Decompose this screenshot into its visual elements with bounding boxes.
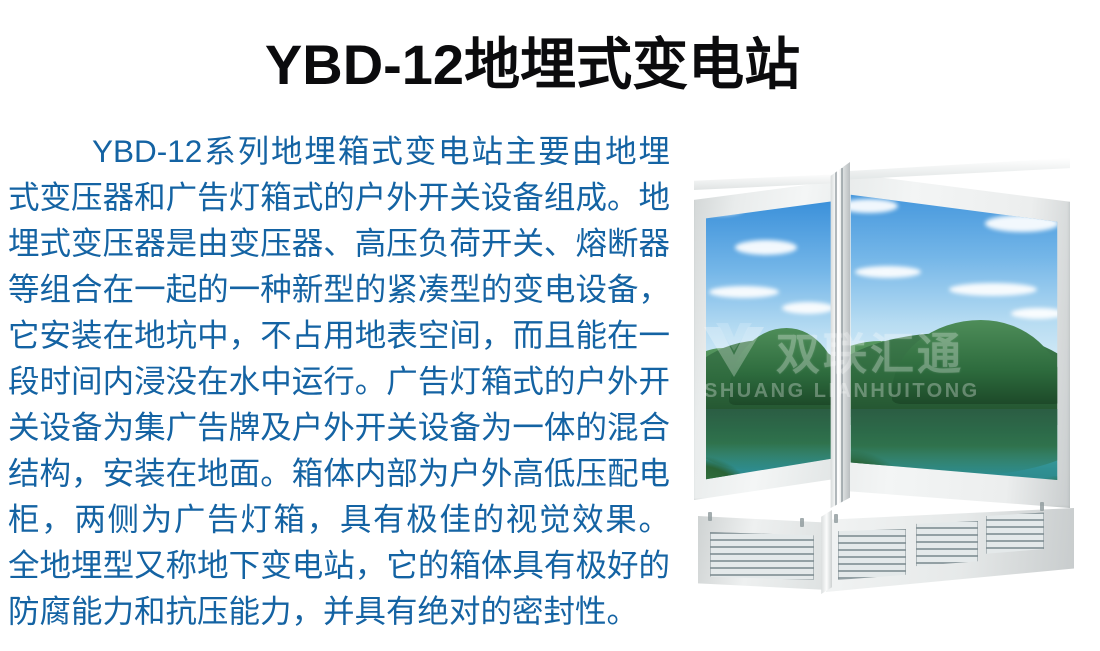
ventilation-louvre bbox=[916, 520, 978, 568]
ventilated-base-plinth bbox=[688, 488, 1080, 598]
hinge-hardware bbox=[708, 512, 712, 521]
left-lightbox-panel bbox=[694, 180, 844, 500]
cabinet-top-cap-right bbox=[838, 158, 1070, 180]
hinge-hardware bbox=[834, 514, 838, 523]
page-title: YBD-12地埋式变电站 bbox=[0, 36, 1065, 95]
cabinet-corner-post bbox=[828, 162, 850, 508]
product-photo: 双联汇通 SHUANG LIANHUITONG bbox=[688, 158, 1080, 590]
cloud-icon bbox=[949, 283, 1037, 296]
cloud-icon bbox=[782, 302, 834, 314]
substation-cabinet-illustration: 双联汇通 SHUANG LIANHUITONG bbox=[688, 158, 1080, 590]
ventilation-louvre bbox=[710, 532, 814, 580]
cloud-icon bbox=[855, 266, 921, 278]
base-corner-post bbox=[820, 510, 832, 594]
cloud-icon bbox=[1011, 308, 1065, 319]
hinge-hardware bbox=[1040, 502, 1044, 511]
corner-seam bbox=[841, 168, 843, 508]
hinge-hardware bbox=[800, 518, 804, 527]
landscape-artwork-left bbox=[694, 180, 844, 500]
product-description-text: YBD-12系列地埋箱式变电站主要由地埋式变压器和广告灯箱式的户外开关设备组成。… bbox=[8, 128, 670, 634]
corner-seam bbox=[835, 168, 837, 508]
ventilation-louvre bbox=[986, 512, 1044, 556]
ventilation-louvre bbox=[838, 528, 906, 580]
product-description-page: YBD-12地埋式变电站 YBD-12系列地埋箱式变电站主要由地埋式变压器和广告… bbox=[0, 0, 1100, 651]
